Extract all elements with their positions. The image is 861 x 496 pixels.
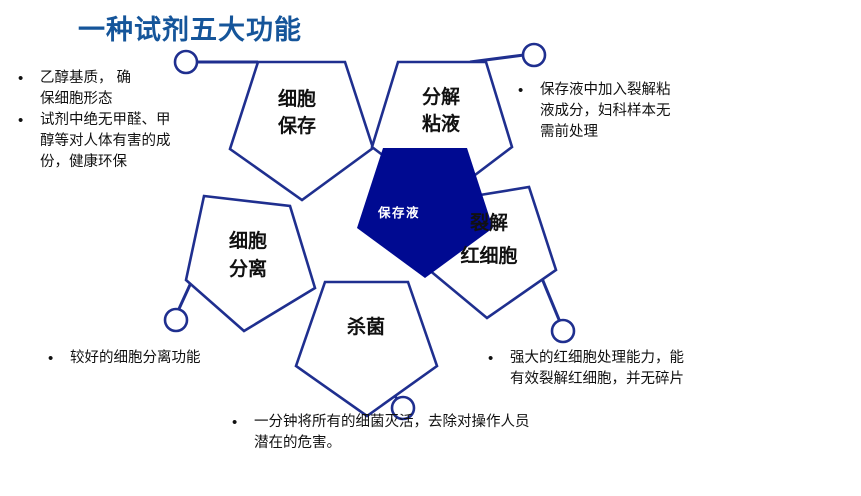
petal-label-cell-separation-line2: 分离 [229, 257, 267, 280]
note-bottom-left: • 较好的细胞分离功能 [48, 348, 298, 369]
note-left-item-2: • 试剂中绝无甲醛、甲 醇等对人体有害的成 份，健康环保 [18, 110, 233, 173]
petal-label-mucus-decomposition-line2: 粘液 [422, 112, 461, 135]
note-bottom-center: • 一分钟将所有的细菌灭活，去除对操作人员 潜在的危害。 [232, 412, 632, 454]
petal-label-cell-preservation-line1: 细胞 [278, 87, 316, 110]
bullet-icon: • [18, 68, 23, 90]
connector-node-red-cell-lysis[interactable] [552, 320, 574, 342]
petal-label-red-cell-lysis-line2: 红细胞 [460, 244, 517, 267]
connector-node-mucus-decomposition[interactable] [523, 44, 545, 66]
petal-label-sterilization-line1: 杀菌 [347, 315, 385, 338]
petal-sterilization[interactable] [296, 282, 437, 416]
petal-label-mucus-decomposition-line1: 分解 [422, 85, 460, 108]
bullet-icon: • [232, 412, 237, 434]
bullet-icon: • [18, 110, 23, 132]
note-left-item-1: • 乙醇基质， 确 保细胞形态 [18, 68, 233, 110]
note-left: • 乙醇基质， 确 保细胞形态 • 试剂中绝无甲醛、甲 醇等对人体有害的成 份，… [18, 68, 233, 173]
bullet-icon: • [518, 80, 523, 102]
connector-node-cell-separation[interactable] [165, 309, 187, 331]
petal-label-cell-separation-line1: 细胞 [229, 229, 267, 252]
note-bottom-right: • 强大的红细胞处理能力，能 有效裂解红细胞，并无碎片 [488, 348, 768, 390]
note-bottom-left-item: • 较好的细胞分离功能 [48, 348, 298, 369]
note-right-top-item: • 保存液中加入裂解粘 液成分，妇科样本无 需前处理 [518, 80, 748, 143]
note-bottom-left-text: 较好的细胞分离功能 [70, 348, 298, 369]
note-bottom-right-text: 强大的红细胞处理能力，能 有效裂解红细胞，并无碎片 [510, 348, 768, 390]
note-left-item-2-text: 试剂中绝无甲醛、甲 醇等对人体有害的成 份，健康环保 [40, 110, 233, 173]
petal-label-cell-preservation-line2: 保存 [277, 114, 316, 137]
note-right-top: • 保存液中加入裂解粘 液成分，妇科样本无 需前处理 [518, 80, 748, 143]
note-bottom-center-item: • 一分钟将所有的细菌灭活，去除对操作人员 潜在的危害。 [232, 412, 632, 454]
bullet-icon: • [48, 348, 53, 370]
note-bottom-right-item: • 强大的红细胞处理能力，能 有效裂解红细胞，并无碎片 [488, 348, 768, 390]
petal-label-red-cell-lysis-line1: 裂解 [470, 211, 508, 234]
bullet-icon: • [488, 348, 493, 370]
core-pentagon-label: 保存液 [377, 205, 420, 220]
note-bottom-center-text: 一分钟将所有的细菌灭活，去除对操作人员 潜在的危害。 [254, 412, 632, 454]
note-left-item-1-text: 乙醇基质， 确 保细胞形态 [40, 68, 233, 110]
note-right-top-text: 保存液中加入裂解粘 液成分，妇科样本无 需前处理 [540, 80, 748, 143]
